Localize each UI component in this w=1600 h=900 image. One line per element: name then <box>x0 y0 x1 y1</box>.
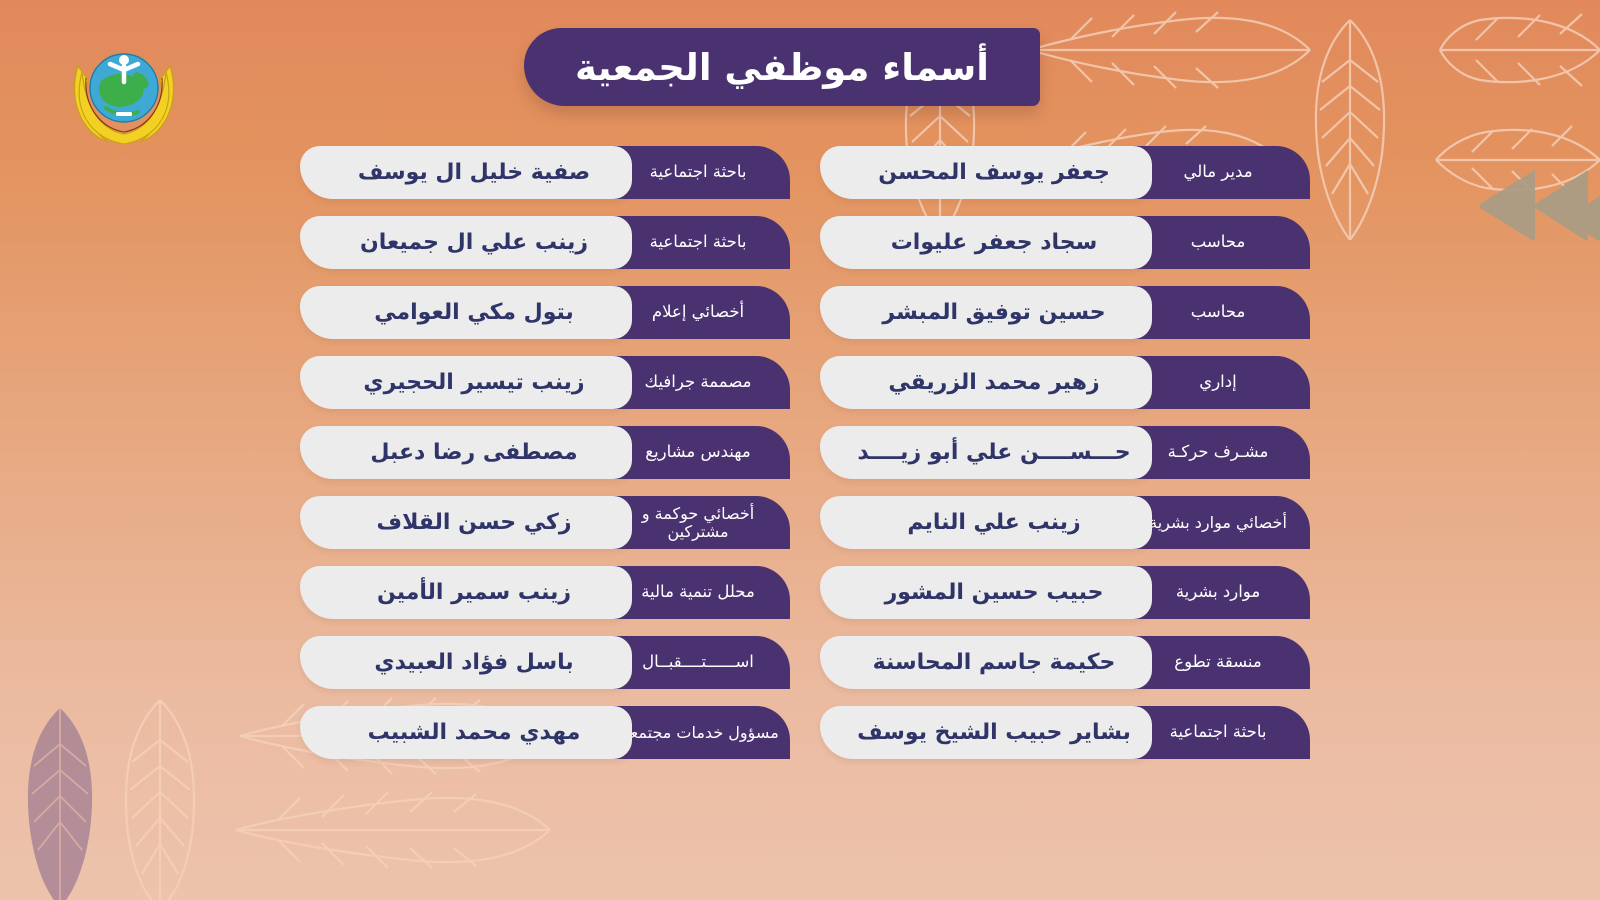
page-title-banner: أسماء موظفي الجمعية <box>524 28 1040 106</box>
staff-name: باسل فؤاد العبيدي <box>374 650 573 675</box>
staff-column-left: باحثة اجتماعية صفية خليل ال يوسف باحثة ا… <box>300 146 790 836</box>
role-label: منسقة تطوع <box>1174 653 1261 671</box>
association-logo <box>62 32 186 148</box>
staff-row[interactable]: إداري زهير محمد الزريقي <box>820 356 1310 409</box>
name-pill: بتول مكي العوامي <box>300 286 632 339</box>
staff-row[interactable]: اســــــتــــقبــال باسل فؤاد العبيدي <box>300 636 790 689</box>
role-label: مسؤول خدمات مجتمعية <box>617 724 779 742</box>
role-label: محلل تنمية مالية <box>641 583 755 601</box>
role-label: موارد بشرية <box>1176 583 1260 601</box>
role-label: أخصائي إعلام <box>652 303 744 321</box>
role-label: باحثة اجتماعية <box>650 233 747 251</box>
name-pill: بشاير حبيب الشيخ يوسف <box>820 706 1152 759</box>
role-label: أخصائي حوكمة و مشتركين <box>616 505 780 541</box>
role-label: محاسب <box>1191 303 1246 321</box>
role-label: أخصائي موارد بشرية <box>1149 514 1287 532</box>
staff-row[interactable]: أخصائي موارد بشرية زينب علي النايم <box>820 496 1310 549</box>
staff-name: حبيب حسين المشور <box>885 580 1104 605</box>
name-pill: مصطفى رضا دعبل <box>300 426 632 479</box>
staff-row[interactable]: موارد بشرية حبيب حسين المشور <box>820 566 1310 619</box>
name-pill: زينب تيسير الحجيري <box>300 356 632 409</box>
name-pill: جعفر يوسف المحسن <box>820 146 1152 199</box>
staff-name: زينب علي النايم <box>907 510 1080 535</box>
role-label: اســــــتــــقبــال <box>642 653 754 671</box>
staff-row[interactable]: محلل تنمية مالية زينب سمير الأمين <box>300 566 790 619</box>
staff-name: بتول مكي العوامي <box>374 300 574 325</box>
staff-row[interactable]: أخصائي إعلام بتول مكي العوامي <box>300 286 790 339</box>
staff-name: زكي حسن القلاف <box>377 510 572 535</box>
staff-row[interactable]: مسؤول خدمات مجتمعية مهدي محمد الشبيب <box>300 706 790 759</box>
role-label: محاسب <box>1191 233 1246 251</box>
role-label: إداري <box>1199 373 1236 391</box>
role-label: باحثة اجتماعية <box>1170 723 1267 741</box>
name-pill: زهير محمد الزريقي <box>820 356 1152 409</box>
name-pill: صفية خليل ال يوسف <box>300 146 632 199</box>
staff-row[interactable]: مصممة جرافيك زينب تيسير الحجيري <box>300 356 790 409</box>
name-pill: مهدي محمد الشبيب <box>300 706 632 759</box>
page-title: أسماء موظفي الجمعية <box>575 46 989 89</box>
name-pill: سجاد جعفر عليوات <box>820 216 1152 269</box>
staff-name: صفية خليل ال يوسف <box>358 160 590 185</box>
staff-row[interactable]: مشـرف حركـة حـــســــن علي أبو زيــــد <box>820 426 1310 479</box>
poster-canvas: أسماء موظفي الجمعية مدير مالي جعفر يوسف … <box>0 0 1600 900</box>
staff-column-right: مدير مالي جعفر يوسف المحسن محاسب سجاد جع… <box>820 146 1310 836</box>
name-pill: زينب علي النايم <box>820 496 1152 549</box>
role-label: مصممة جرافيك <box>645 373 752 391</box>
staff-name: زهير محمد الزريقي <box>888 370 1099 395</box>
staff-name: زينب تيسير الحجيري <box>363 370 584 395</box>
staff-name: بشاير حبيب الشيخ يوسف <box>857 720 1131 745</box>
staff-name: مهدي محمد الشبيب <box>368 720 581 745</box>
name-pill: زينب سمير الأمين <box>300 566 632 619</box>
name-pill: حـــســــن علي أبو زيــــد <box>820 426 1152 479</box>
staff-row[interactable]: أخصائي حوكمة و مشتركين زكي حسن القلاف <box>300 496 790 549</box>
staff-name: جعفر يوسف المحسن <box>878 160 1110 185</box>
staff-row[interactable]: باحثة اجتماعية بشاير حبيب الشيخ يوسف <box>820 706 1310 759</box>
name-pill: حبيب حسين المشور <box>820 566 1152 619</box>
role-label: مدير مالي <box>1183 163 1252 181</box>
staff-row[interactable]: محاسب حسين توفيق المبشر <box>820 286 1310 339</box>
name-pill: حسين توفيق المبشر <box>820 286 1152 339</box>
staff-row[interactable]: محاسب سجاد جعفر عليوات <box>820 216 1310 269</box>
name-pill: باسل فؤاد العبيدي <box>300 636 632 689</box>
staff-row[interactable]: منسقة تطوع حكيمة جاسم المحاسنة <box>820 636 1310 689</box>
staff-row[interactable]: باحثة اجتماعية زينب علي ال جميعان <box>300 216 790 269</box>
name-pill: حكيمة جاسم المحاسنة <box>820 636 1152 689</box>
staff-name: حسين توفيق المبشر <box>882 300 1105 325</box>
role-label: مهندس مشاريع <box>645 443 750 461</box>
role-label: مشـرف حركـة <box>1168 443 1269 461</box>
name-pill: زكي حسن القلاف <box>300 496 632 549</box>
staff-row[interactable]: مهندس مشاريع مصطفى رضا دعبل <box>300 426 790 479</box>
staff-name: سجاد جعفر عليوات <box>891 230 1098 255</box>
staff-name: مصطفى رضا دعبل <box>370 440 577 465</box>
role-label: باحثة اجتماعية <box>650 163 747 181</box>
name-pill: زينب علي ال جميعان <box>300 216 632 269</box>
staff-name: زينب علي ال جميعان <box>360 230 588 255</box>
staff-columns: مدير مالي جعفر يوسف المحسن محاسب سجاد جع… <box>0 146 1600 836</box>
staff-row[interactable]: مدير مالي جعفر يوسف المحسن <box>820 146 1310 199</box>
staff-name: حـــســــن علي أبو زيــــد <box>857 440 1130 465</box>
staff-name: زينب سمير الأمين <box>377 580 571 605</box>
staff-row[interactable]: باحثة اجتماعية صفية خليل ال يوسف <box>300 146 790 199</box>
staff-name: حكيمة جاسم المحاسنة <box>873 650 1116 675</box>
